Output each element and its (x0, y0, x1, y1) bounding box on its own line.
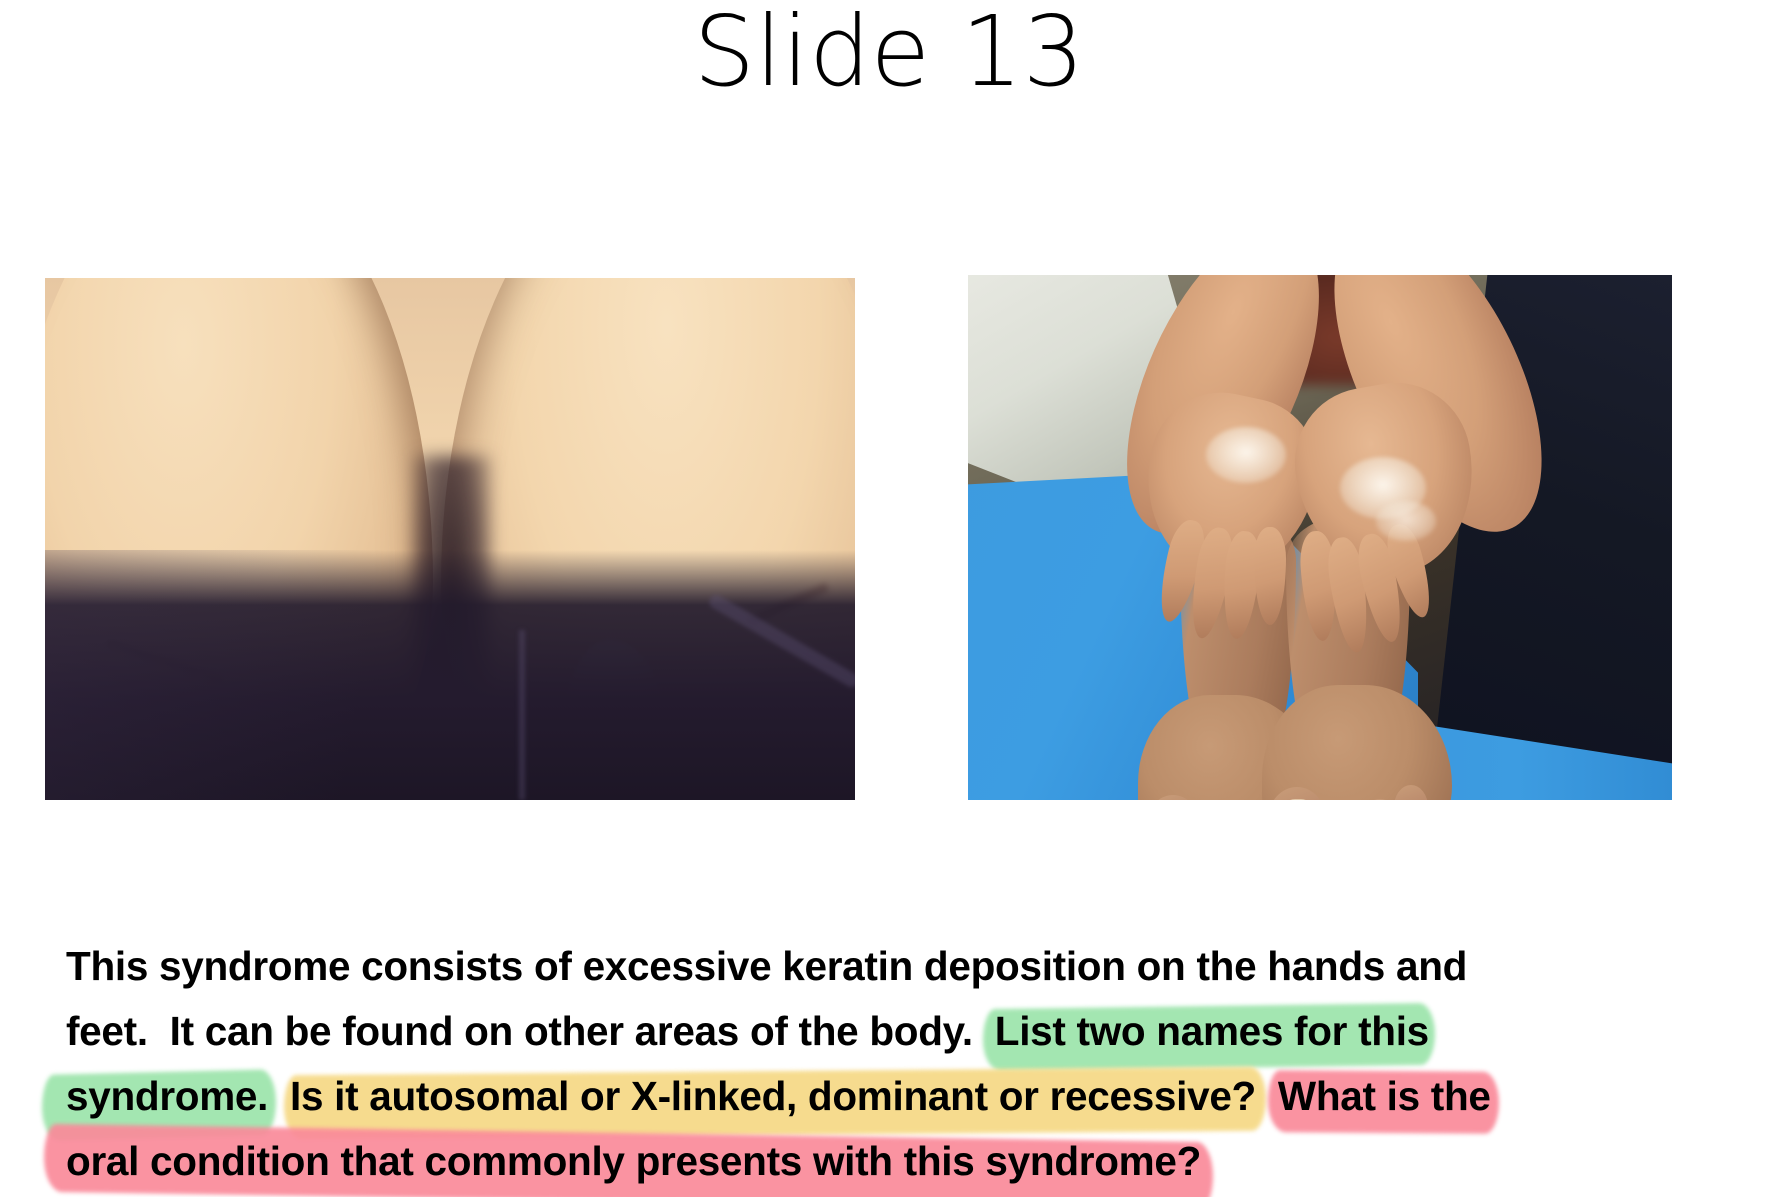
presentation-slide: Slide 13 (0, 0, 1778, 1197)
body-line-1-text: This syndrome consists of excessive kera… (66, 943, 1467, 989)
highlight-yellow-inheritance-question: Is it autosomal or X-linked, dominant or… (290, 1073, 1256, 1119)
dark-trousers (45, 550, 855, 800)
body-line-1: This syndrome consists of excessive kera… (66, 934, 1716, 999)
highlight-pink-oral-condition-question: oral condition that commonly presents wi… (66, 1138, 1201, 1184)
hands-feet-keratoderma-photo (968, 275, 1672, 800)
slide-body-text: This syndrome consists of excessive kera… (66, 934, 1716, 1194)
left-hand-keratin-scale (1206, 427, 1286, 483)
body-line-2-plain: feet. It can be found on other areas of … (66, 1008, 995, 1054)
highlight-green-list-two-names: List two names for this (995, 1008, 1429, 1054)
trouser-seam (519, 630, 525, 800)
right-hand-keratin-scale-2 (1376, 501, 1436, 541)
knees-keratoderma-photo (45, 278, 855, 800)
body-line-2: feet. It can be found on other areas of … (66, 999, 1716, 1064)
page-title: Slide 13 (0, 0, 1778, 108)
highlight-green-syndrome: syndrome. (66, 1073, 268, 1119)
body-line-3: syndrome. Is it autosomal or X-linked, d… (66, 1064, 1716, 1129)
highlight-pink-what-is-the: What is the (1278, 1073, 1491, 1119)
body-line-4: oral condition that commonly presents wi… (66, 1129, 1716, 1194)
